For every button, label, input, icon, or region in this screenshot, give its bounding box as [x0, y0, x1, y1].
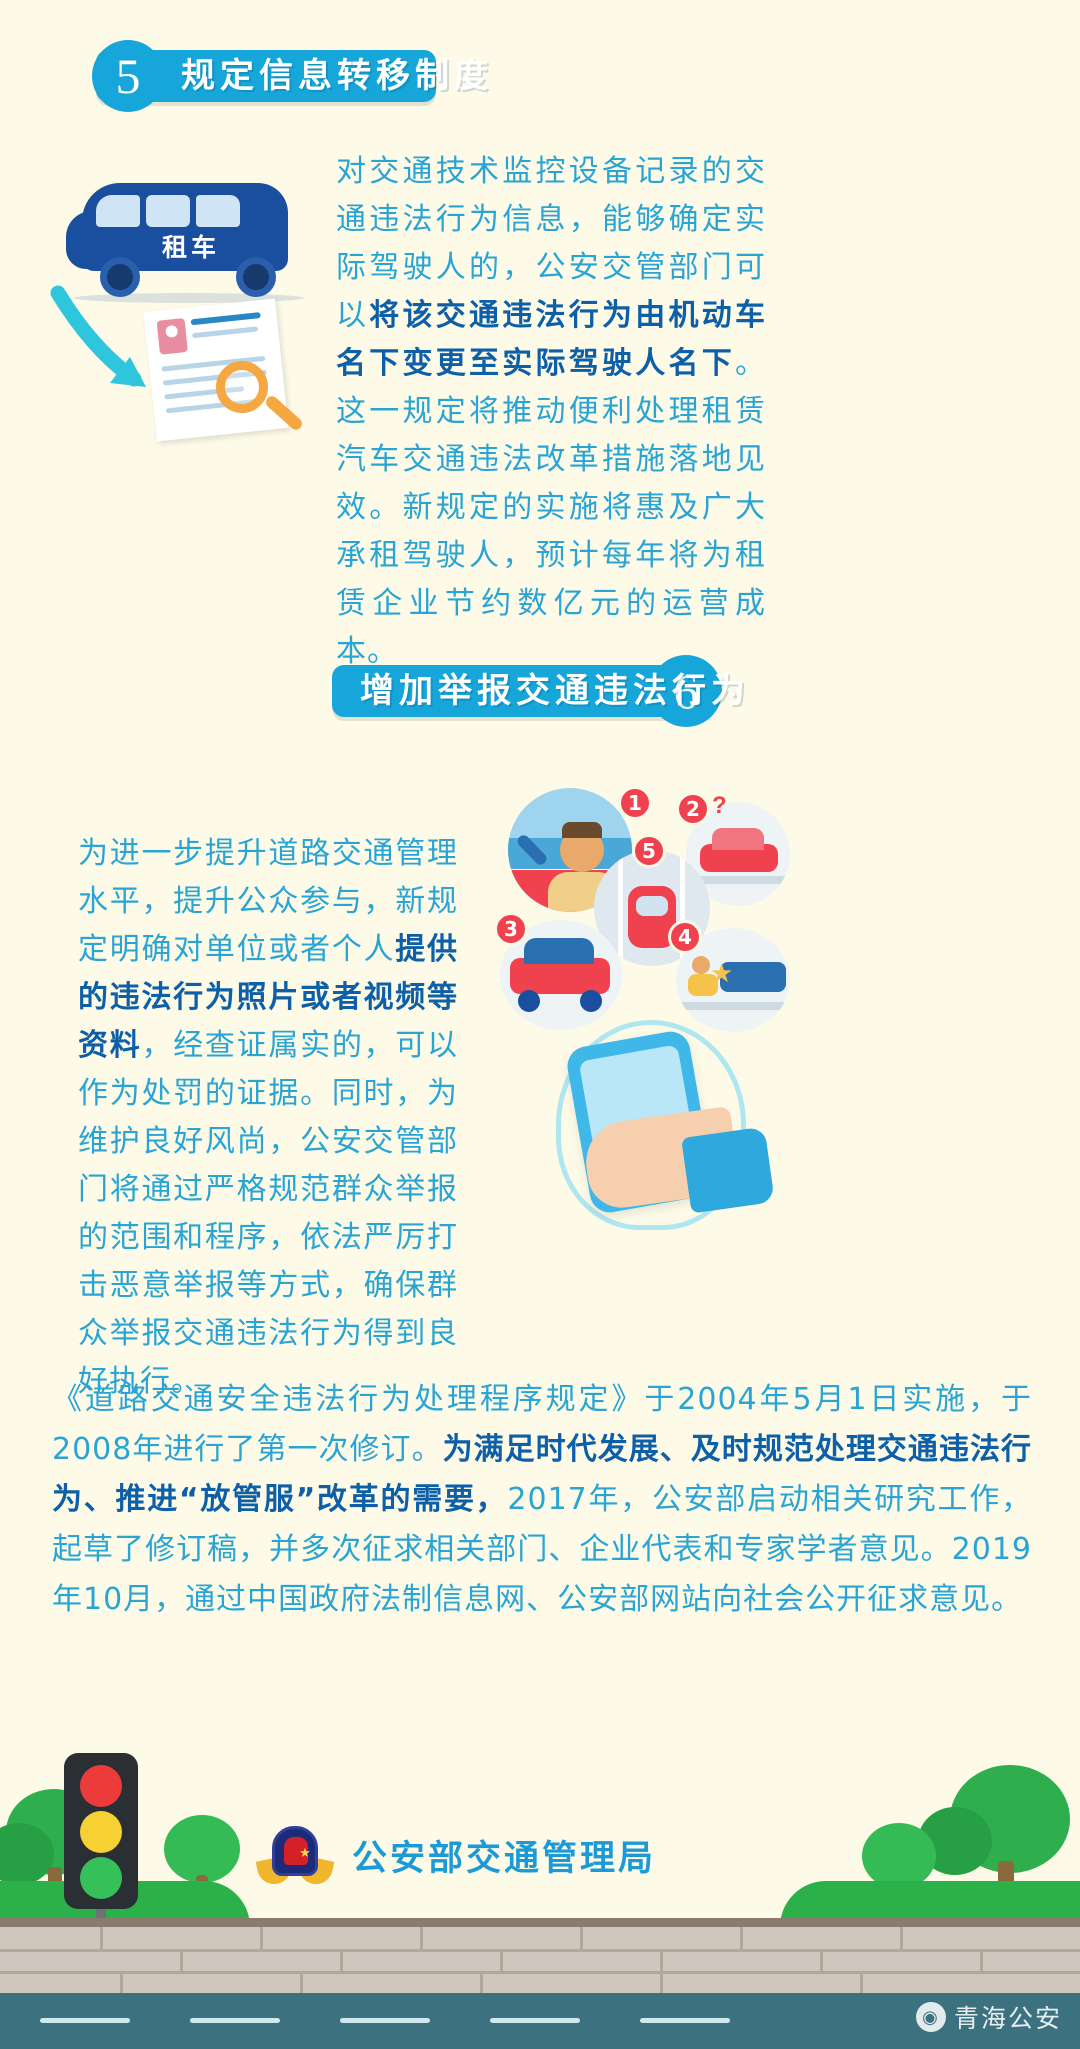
s6-text-c: ，经查证属实的，可以作为处罚的证据。同时，为维护良好风尚，公安交管部门将通过严格…	[78, 1028, 458, 1399]
weibo-icon: ◉	[916, 2002, 946, 2032]
magnifier-icon	[216, 361, 268, 413]
section-5-paragraph: 对交通技术监控设备记录的交通违法行为信息，能够确定实际驾驶人的，公安交管部门可以…	[336, 148, 766, 676]
s5-text-b: 将该交通违法行为由机动车名下变更至实际驾驶人名下	[336, 298, 766, 381]
van-window	[96, 195, 140, 227]
document-photo	[157, 318, 188, 355]
bubble-number-1: 1	[618, 786, 652, 820]
bubble-number-4: 4	[668, 920, 702, 954]
section-5-title: 规定信息转移制度	[181, 52, 493, 100]
bubble-number-5: 5	[632, 834, 666, 868]
traffic-light-green	[80, 1857, 122, 1899]
section-5-header: 5 规定信息转移制度	[46, 40, 446, 112]
infographic-page: 5 规定信息转移制度 租车 对交通技术监控设备记录的交通违法行为信息	[0, 0, 1080, 2049]
section-6-title: 增加举报交通违法行为	[360, 667, 750, 715]
rental-van-illustration: 租车	[40, 165, 330, 455]
footer-scene: ◉ 青海公安	[0, 1759, 1080, 2049]
section-6-header: 6 增加举报交通违法行为	[320, 655, 740, 727]
traffic-light-icon	[64, 1753, 138, 1921]
question-mark-icon: ?	[712, 792, 727, 820]
closing-paragraph: 《道路交通安全违法行为处理程序规定》于2004年5月1日实施，于2008年进行了…	[52, 1375, 1032, 1625]
van-window	[196, 195, 240, 227]
watermark-text: 青海公安	[954, 1999, 1062, 2035]
bubble-number-3: 3	[494, 912, 528, 946]
document-heading-line	[191, 312, 261, 325]
document-line	[192, 326, 258, 338]
van-label: 租车	[136, 233, 246, 263]
traffic-light-box	[64, 1753, 138, 1909]
bubble-number-2: 2	[676, 792, 710, 826]
report-violations-illustration: 1 2 ? 5 3	[490, 780, 790, 1220]
van-wheel	[236, 257, 276, 297]
traffic-light-red	[80, 1765, 122, 1807]
sleeve	[681, 1127, 775, 1214]
section-5-number-badge: 5	[92, 40, 164, 112]
document-icon	[144, 298, 289, 441]
watermark: ◉ 青海公安	[916, 1999, 1062, 2035]
van-window	[146, 195, 190, 227]
brick-wall	[0, 1918, 1080, 1993]
s5-text-c: 。这一规定将推动便利处理租赁汽车交通违法改革措施落地见效。新规定的实施将惠及广大…	[336, 346, 766, 669]
section-6-paragraph: 为进一步提升道路交通管理水平，提升公众参与，新规定明确对单位或者个人提供的违法行…	[78, 830, 458, 1406]
traffic-light-yellow	[80, 1811, 122, 1853]
van-wheel	[100, 257, 140, 297]
